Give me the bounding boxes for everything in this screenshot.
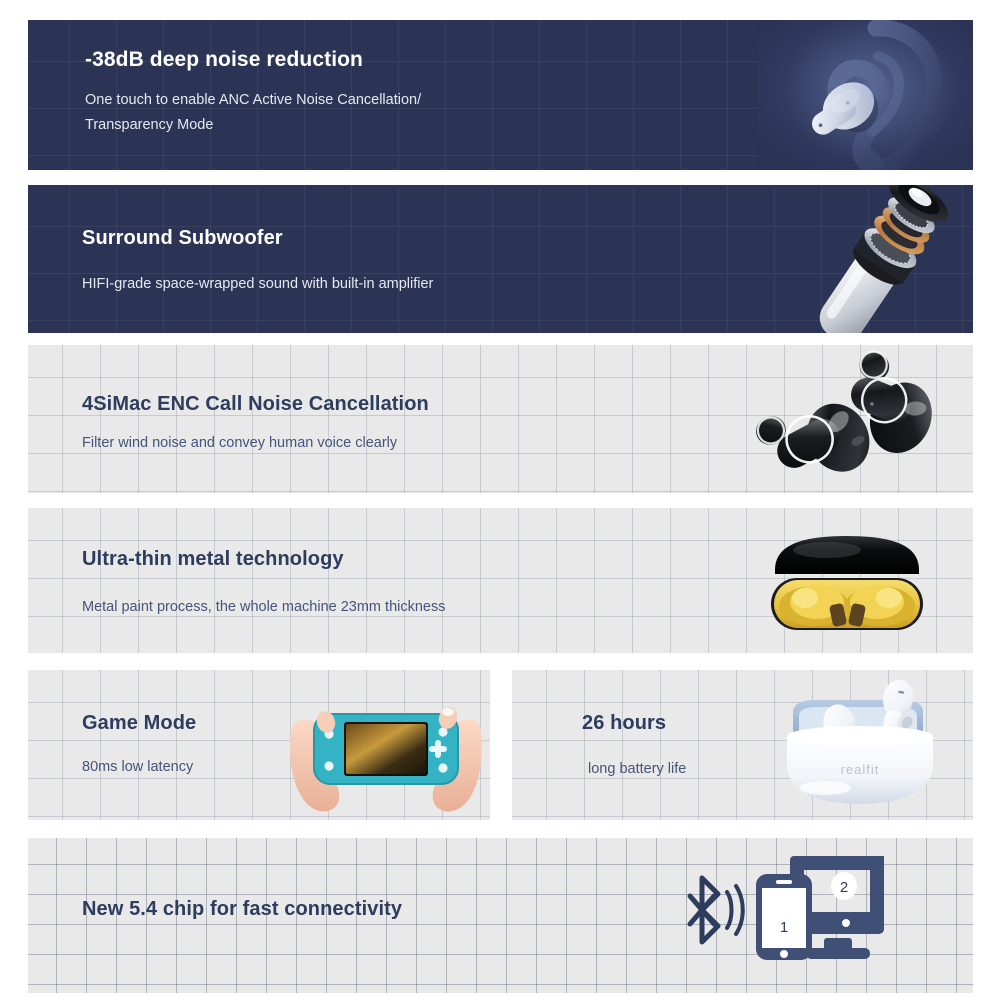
feature-panel-battery-life: realfit 26 hours long battery life (512, 670, 973, 820)
panel-subtitle: HIFI-grade space-wrapped sound with buil… (82, 274, 742, 295)
device-badge-1: 1 (771, 912, 797, 940)
charging-case-open-icon (757, 528, 937, 640)
feature-panel-surround-subwoofer: Surround Subwoofer HIFI-grade space-wrap… (28, 185, 973, 333)
panel-title: Surround Subwoofer (82, 227, 742, 250)
panel-text-block: 4SiMac ENC Call Noise Cancellation Filte… (82, 393, 722, 454)
feature-panel-noise-reduction: -38dB deep noise reduction One touch to … (28, 20, 973, 170)
panel-subtitle-line1: One touch to enable ANC Active Noise Can… (85, 90, 725, 111)
feature-panel-ultra-thin-metal: Ultra-thin metal technology Metal paint … (28, 508, 973, 653)
brand-label: realfit (841, 762, 880, 777)
panel-text-block: 26 hours long battery life (582, 712, 822, 780)
product-feature-infographic: -38dB deep noise reduction One touch to … (0, 0, 1000, 1000)
panel-text-block: -38dB deep noise reduction One touch to … (85, 48, 725, 135)
feature-panel-bluetooth-chip: 1 2 New 5.4 chip for fast connectivity (28, 838, 973, 993)
panel-title: 4SiMac ENC Call Noise Cancellation (82, 393, 722, 416)
feature-panel-game-mode: Game Mode 80ms low latency (28, 670, 490, 820)
panel-title: Ultra-thin metal technology (82, 548, 722, 571)
earbud-in-ear-icon (758, 20, 973, 170)
panel-text-block: Game Mode 80ms low latency (82, 712, 342, 778)
panel-text-block: Surround Subwoofer HIFI-grade space-wrap… (82, 227, 742, 295)
device-badge-2: 2 (831, 872, 857, 900)
feature-panel-enc-call-noise-cancellation: 4SiMac ENC Call Noise Cancellation Filte… (28, 345, 973, 493)
device-badge-1-label: 1 (780, 919, 788, 936)
device-badge-2-label: 2 (840, 879, 848, 896)
panel-text-block: Ultra-thin metal technology Metal paint … (82, 548, 722, 618)
panel-title: Game Mode (82, 712, 342, 735)
panel-subtitle-line2: Transparency Mode (85, 115, 725, 136)
panel-subtitle: Metal paint process, the whole machine 2… (82, 597, 722, 618)
panel-text-block: New 5.4 chip for fast connectivity (82, 898, 702, 921)
panel-subtitle: Filter wind noise and convey human voice… (82, 433, 722, 454)
panel-title: 26 hours (582, 712, 822, 735)
panel-subtitle: 80ms low latency (82, 757, 342, 778)
panel-title: -38dB deep noise reduction (85, 48, 725, 72)
panel-subtitle: long battery life (588, 759, 822, 780)
speaker-driver-exploded-icon (787, 185, 973, 333)
panel-title: New 5.4 chip for fast connectivity (82, 898, 702, 921)
black-earbuds-icon (749, 345, 971, 493)
bluetooth-multipoint-devices-icon: 1 2 (678, 844, 923, 984)
